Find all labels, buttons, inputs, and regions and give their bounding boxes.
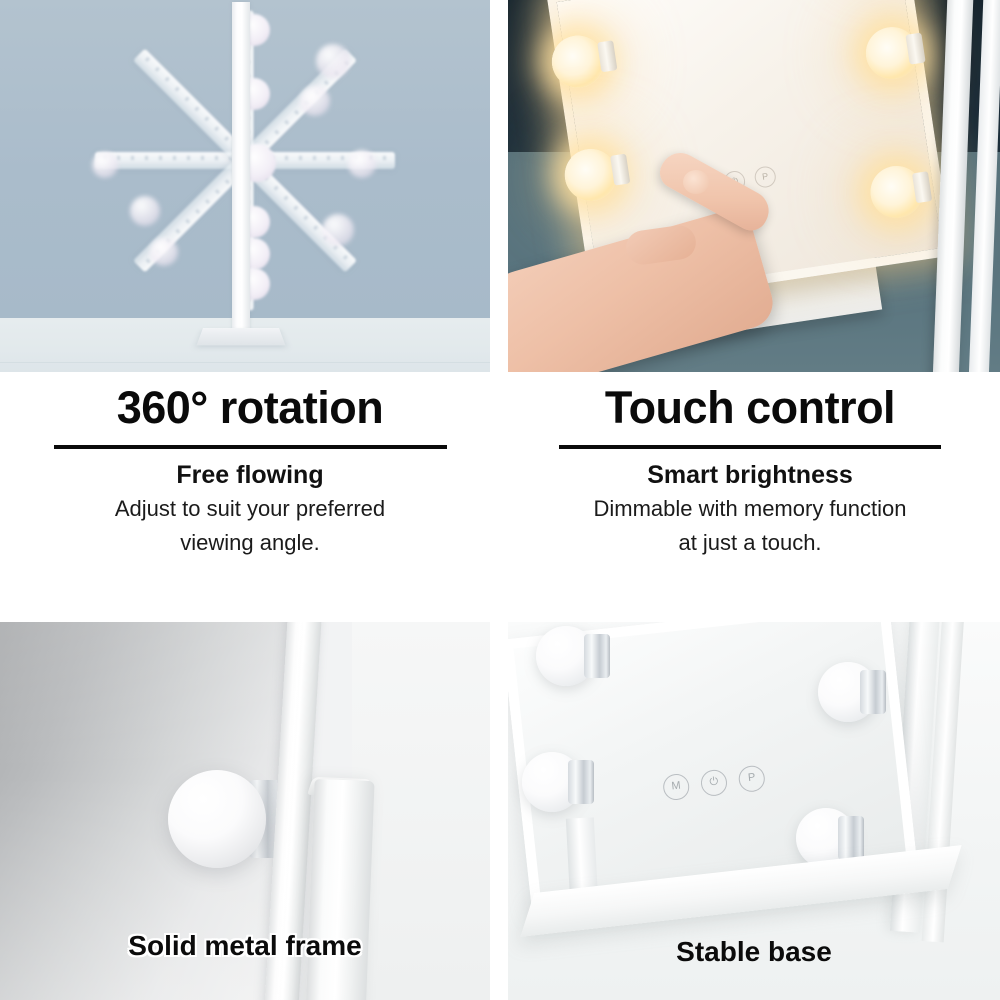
stand-leg xyxy=(305,779,374,1000)
feature-body-line2: at just a touch. xyxy=(500,528,1000,557)
panel-caption: Stable base xyxy=(508,936,1000,968)
feature-body-line1: Adjust to suit your preferred xyxy=(0,494,500,523)
bulb-chrome-collar xyxy=(568,760,594,804)
mirror-stand-base xyxy=(196,328,285,345)
feature-text-touch: Touch control Smart brightness Dimmable … xyxy=(500,372,1000,622)
blurred-bulb xyxy=(348,150,376,178)
fingertip xyxy=(683,170,709,194)
bulb-chrome-collar xyxy=(838,816,864,860)
blurred-bulb xyxy=(322,214,354,246)
feature-text-rotation: 360° rotation Free flowing Adjust to sui… xyxy=(0,372,500,622)
memory-button[interactable]: M xyxy=(662,773,691,802)
power-button[interactable]: ⏻ xyxy=(700,769,729,798)
top-image-row: M ⏻ P xyxy=(0,0,1000,372)
stable-base-photo: M ⏻ P Stable base xyxy=(508,622,1000,1000)
headline-divider xyxy=(559,445,941,449)
feature-headline: 360° rotation xyxy=(0,372,500,431)
bulb-chrome-collar xyxy=(584,634,610,678)
blurred-bulb xyxy=(316,44,350,78)
feature-text-row: 360° rotation Free flowing Adjust to sui… xyxy=(0,372,1000,622)
feature-body-line2: viewing angle. xyxy=(0,528,500,557)
light-bulb xyxy=(168,770,266,868)
bottom-image-row: Solid metal frame M ⏻ P Stable base xyxy=(0,622,1000,1000)
rotation-photo xyxy=(0,0,490,372)
feature-body-line1: Dimmable with memory function xyxy=(500,494,1000,523)
product-feature-collage: M ⏻ P 360° rotation Free flowing Adjust … xyxy=(0,0,1000,1000)
bulb-cap xyxy=(597,40,617,72)
preset-button[interactable]: P xyxy=(753,165,777,189)
bulb-cap xyxy=(912,171,932,203)
preset-button[interactable]: P xyxy=(737,764,766,793)
bulb-chrome-collar xyxy=(860,670,886,714)
touch-control-photo: M ⏻ P xyxy=(508,0,1000,372)
blurred-bulb xyxy=(150,238,178,266)
headline-divider xyxy=(54,445,447,449)
blurred-bulb xyxy=(130,196,160,226)
bulb-cap xyxy=(610,154,630,186)
feature-subhead: Free flowing xyxy=(0,461,500,490)
feature-headline: Touch control xyxy=(500,372,1000,431)
blurred-bulb xyxy=(300,86,330,116)
solid-metal-frame-photo: Solid metal frame xyxy=(0,622,490,1000)
panel-caption: Solid metal frame xyxy=(0,930,490,962)
blurred-bulb xyxy=(92,152,118,178)
mirror-stand-post xyxy=(232,2,250,332)
feature-subhead: Smart brightness xyxy=(500,461,1000,490)
